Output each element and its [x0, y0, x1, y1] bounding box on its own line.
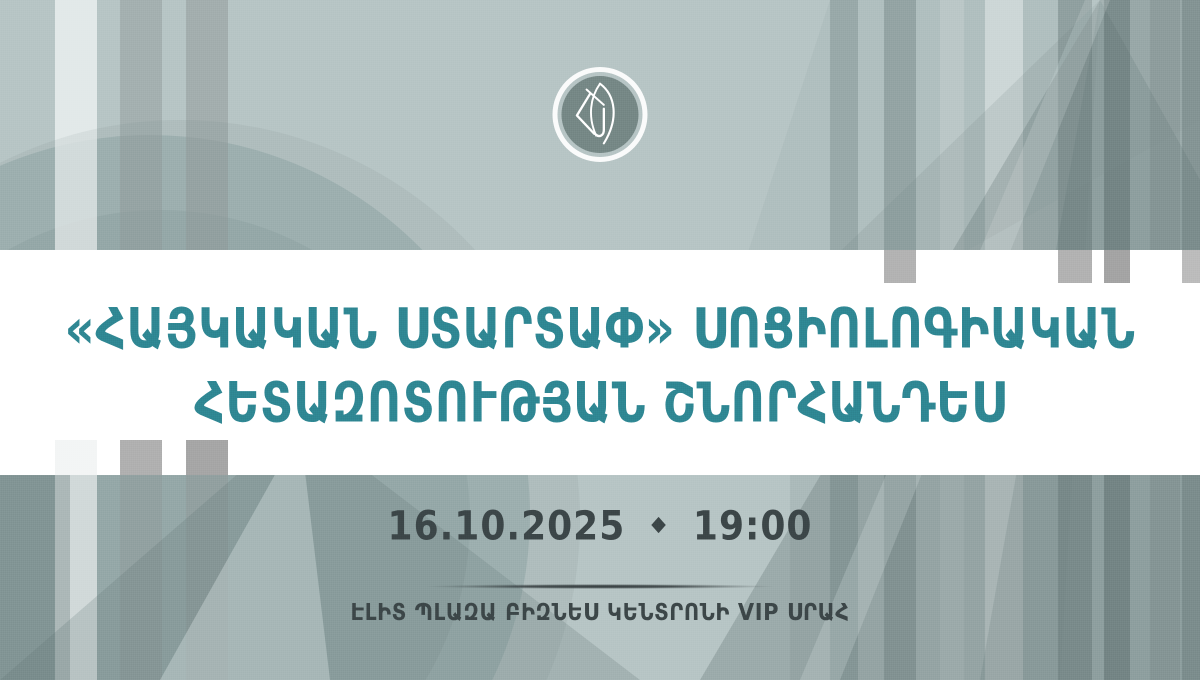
section-divider	[425, 584, 775, 589]
event-time: 19:00	[693, 504, 813, 550]
band-bar	[1058, 250, 1092, 283]
diamond-separator-icon: ◆	[651, 514, 667, 535]
title-block: «ՀԱՅԿԱԿԱՆ ՍՏԱՐՏԱՓ» ՍՈՑԻՈԼՈԳԻԱԿԱՆ ՀԵՏԱԶՈՏ…	[0, 286, 1200, 434]
event-venue: ԷԼԻՏ ՊԼԱԶԱ ԲԻԶՆԵՍ ԿԵՆՏՐՈՆԻ VIP ՍՐԱՀ	[0, 599, 1200, 626]
event-poster: «ՀԱՅԿԱԿԱՆ ՍՏԱՐՏԱՓ» ՍՈՑԻՈԼՈԳԻԱԿԱՆ ՀԵՏԱԶՈՏ…	[0, 0, 1200, 680]
monogram-icon	[562, 76, 639, 153]
datetime-row: 16.10.2025 ◆ 19:00	[0, 504, 1200, 550]
band-bar	[884, 250, 916, 283]
band-bar	[1182, 250, 1200, 283]
brand-logo	[553, 67, 648, 162]
event-date: 16.10.2025	[388, 504, 626, 550]
event-meta: 16.10.2025 ◆ 19:00	[0, 506, 1200, 547]
band-bar	[1104, 250, 1130, 283]
title-line-2: ՀԵՏԱԶՈՏՈՒԹՅԱՆ ՇՆՈՐՀԱՆԴԵՍ	[0, 360, 1200, 447]
